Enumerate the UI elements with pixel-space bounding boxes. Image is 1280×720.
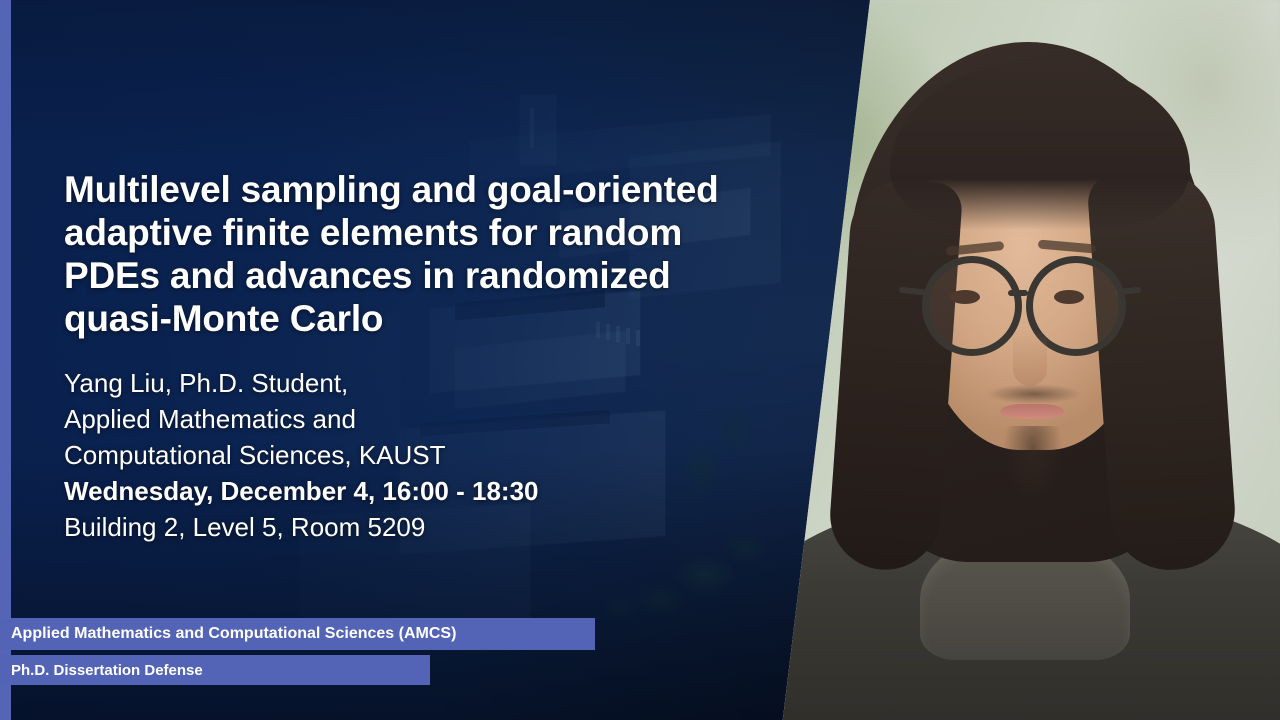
goatee-shape: [1004, 426, 1062, 500]
speaker-name-line: Yang Liu, Ph.D. Student,: [64, 365, 704, 401]
affiliation-line-1: Applied Mathematics and: [64, 401, 704, 437]
left-accent-bar: [0, 0, 11, 720]
mouth-shape: [1000, 404, 1064, 419]
speaker-details: Yang Liu, Ph.D. Student, Applied Mathema…: [64, 365, 704, 545]
datetime-line: Wednesday, December 4, 16:00 - 18:30: [64, 473, 704, 509]
seminar-announcement-slide: Multilevel sampling and goal-oriented ad…: [0, 0, 1280, 720]
event-type-banner: Ph.D. Dissertation Defense: [0, 655, 430, 685]
event-type-banner-label: Ph.D. Dissertation Defense: [11, 662, 203, 679]
department-banner: Applied Mathematics and Computational Sc…: [0, 618, 595, 650]
page-title: Multilevel sampling and goal-oriented ad…: [64, 168, 764, 340]
affiliation-line-2: Computational Sciences, KAUST: [64, 437, 704, 473]
nose-shape: [1013, 330, 1047, 386]
glasses-bridge: [1008, 290, 1028, 296]
glasses-lens-left: [922, 256, 1022, 356]
moustache-shape: [986, 384, 1082, 404]
location-line: Building 2, Level 5, Room 5209: [64, 509, 704, 545]
department-banner-label: Applied Mathematics and Computational Sc…: [11, 625, 456, 643]
